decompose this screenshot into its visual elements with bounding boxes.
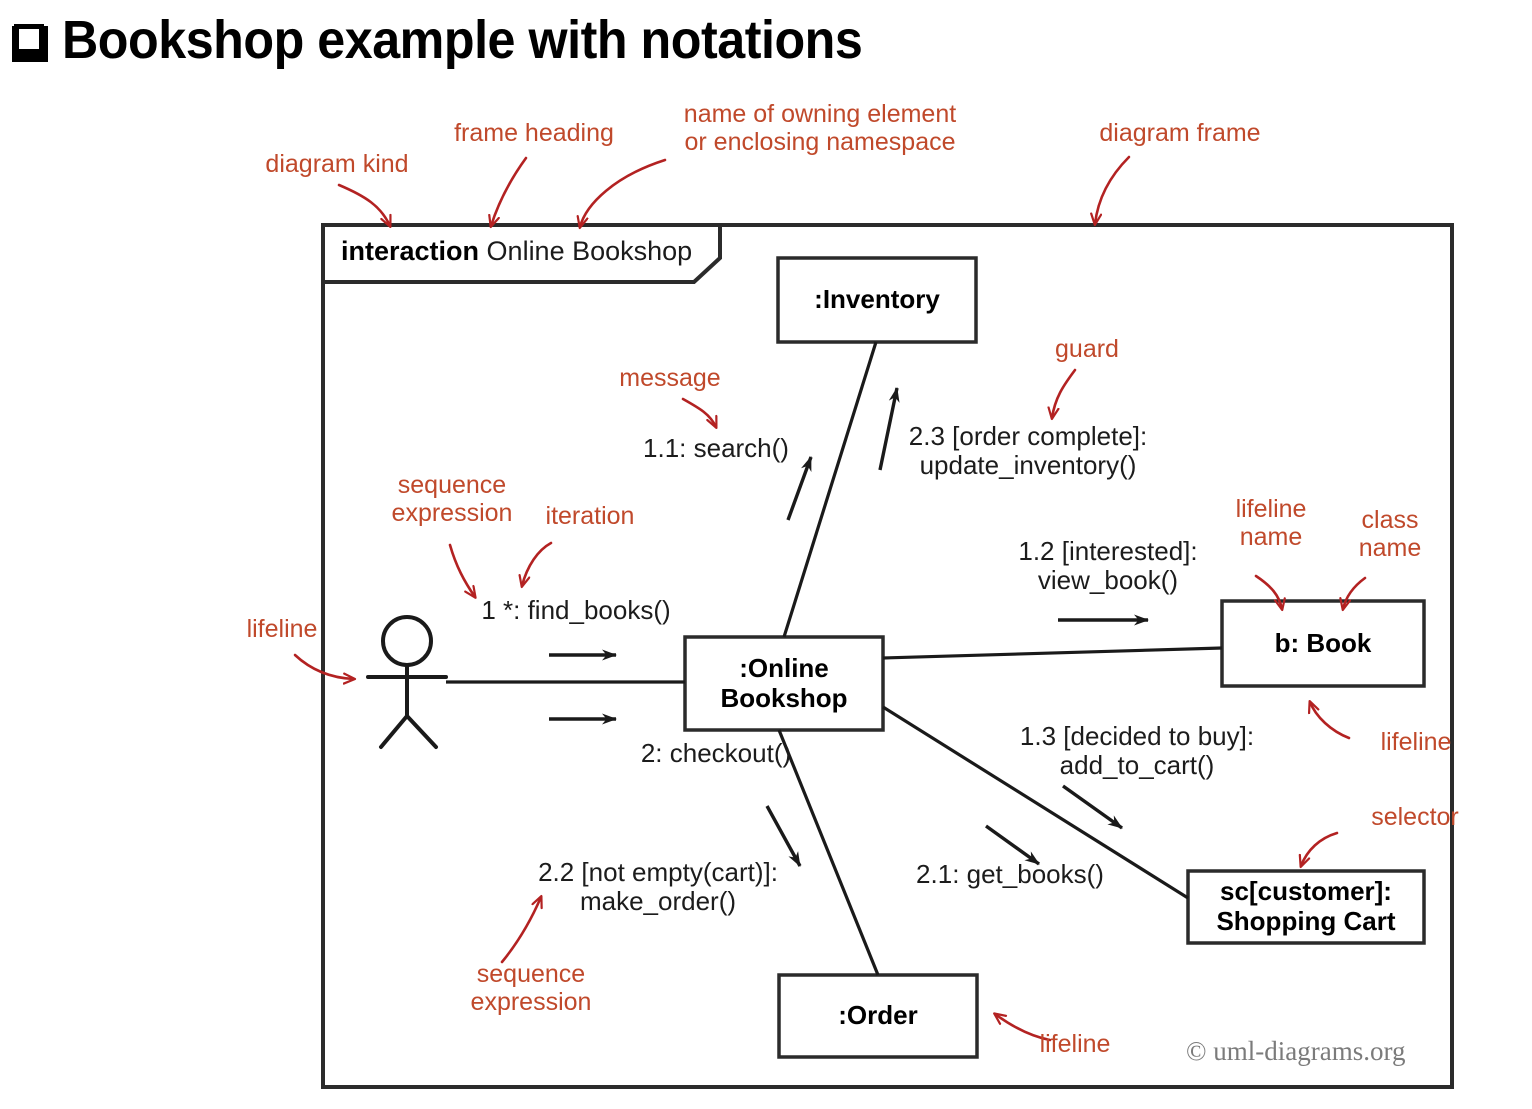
- frame-heading-keyword: interaction: [341, 236, 479, 266]
- leader-frame-heading: [491, 158, 526, 226]
- message-label-add-to-cart: 1.3 [decided to buy]: add_to_cart(): [942, 722, 1332, 780]
- watermark-uml-diagrams: © uml-diagrams.org: [1186, 1036, 1405, 1067]
- annotation-sequence-expression-bottom: sequence expression: [426, 960, 636, 1016]
- message-label-update-inventory: 2.3 [order complete]: update_inventory(): [828, 422, 1228, 480]
- message-label-checkout: 2: checkout(): [556, 739, 876, 768]
- leader-owning-element: [580, 160, 665, 227]
- annotation-selector: selector: [1330, 803, 1500, 831]
- message-label-make-order: 2.2 [not empty(cart)]: make_order(): [448, 858, 868, 916]
- leader-diagram-frame: [1095, 157, 1129, 224]
- annotation-lifeline-actor: lifeline: [207, 615, 357, 643]
- lifeline-label-online-bookshop: :Online Bookshop: [685, 637, 883, 730]
- message-label-find-books: 1 *: find_books(): [396, 596, 756, 625]
- annotation-diagram-kind: diagram kind: [237, 150, 437, 178]
- annotation-diagram-frame: diagram frame: [1057, 119, 1303, 147]
- frame-heading-name: Online Bookshop: [487, 236, 693, 266]
- lifeline-label-order: :Order: [779, 975, 977, 1057]
- leader-diagram-kind: [339, 185, 390, 226]
- annotation-lifeline-order: lifeline: [1000, 1030, 1150, 1058]
- lifeline-label-inventory: :Inventory: [778, 258, 976, 342]
- annotation-frame-heading: frame heading: [426, 119, 642, 147]
- annotation-owning-element: name of owning element or enclosing name…: [640, 100, 1000, 156]
- annotation-iteration: iteration: [500, 502, 680, 530]
- message-label-get-books: 2.1: get_books(): [830, 860, 1190, 889]
- annotation-lifeline-book: lifeline: [1341, 728, 1491, 756]
- lifeline-label-shopping-cart: sc[customer]: Shopping Cart: [1188, 871, 1424, 943]
- annotation-guard: guard: [1012, 335, 1162, 363]
- annotation-message: message: [575, 364, 765, 392]
- lifeline-label-book: b: Book: [1222, 601, 1424, 686]
- annotation-class-name: class name: [1320, 506, 1460, 562]
- frame-heading-label: interaction Online Bookshop: [341, 236, 692, 267]
